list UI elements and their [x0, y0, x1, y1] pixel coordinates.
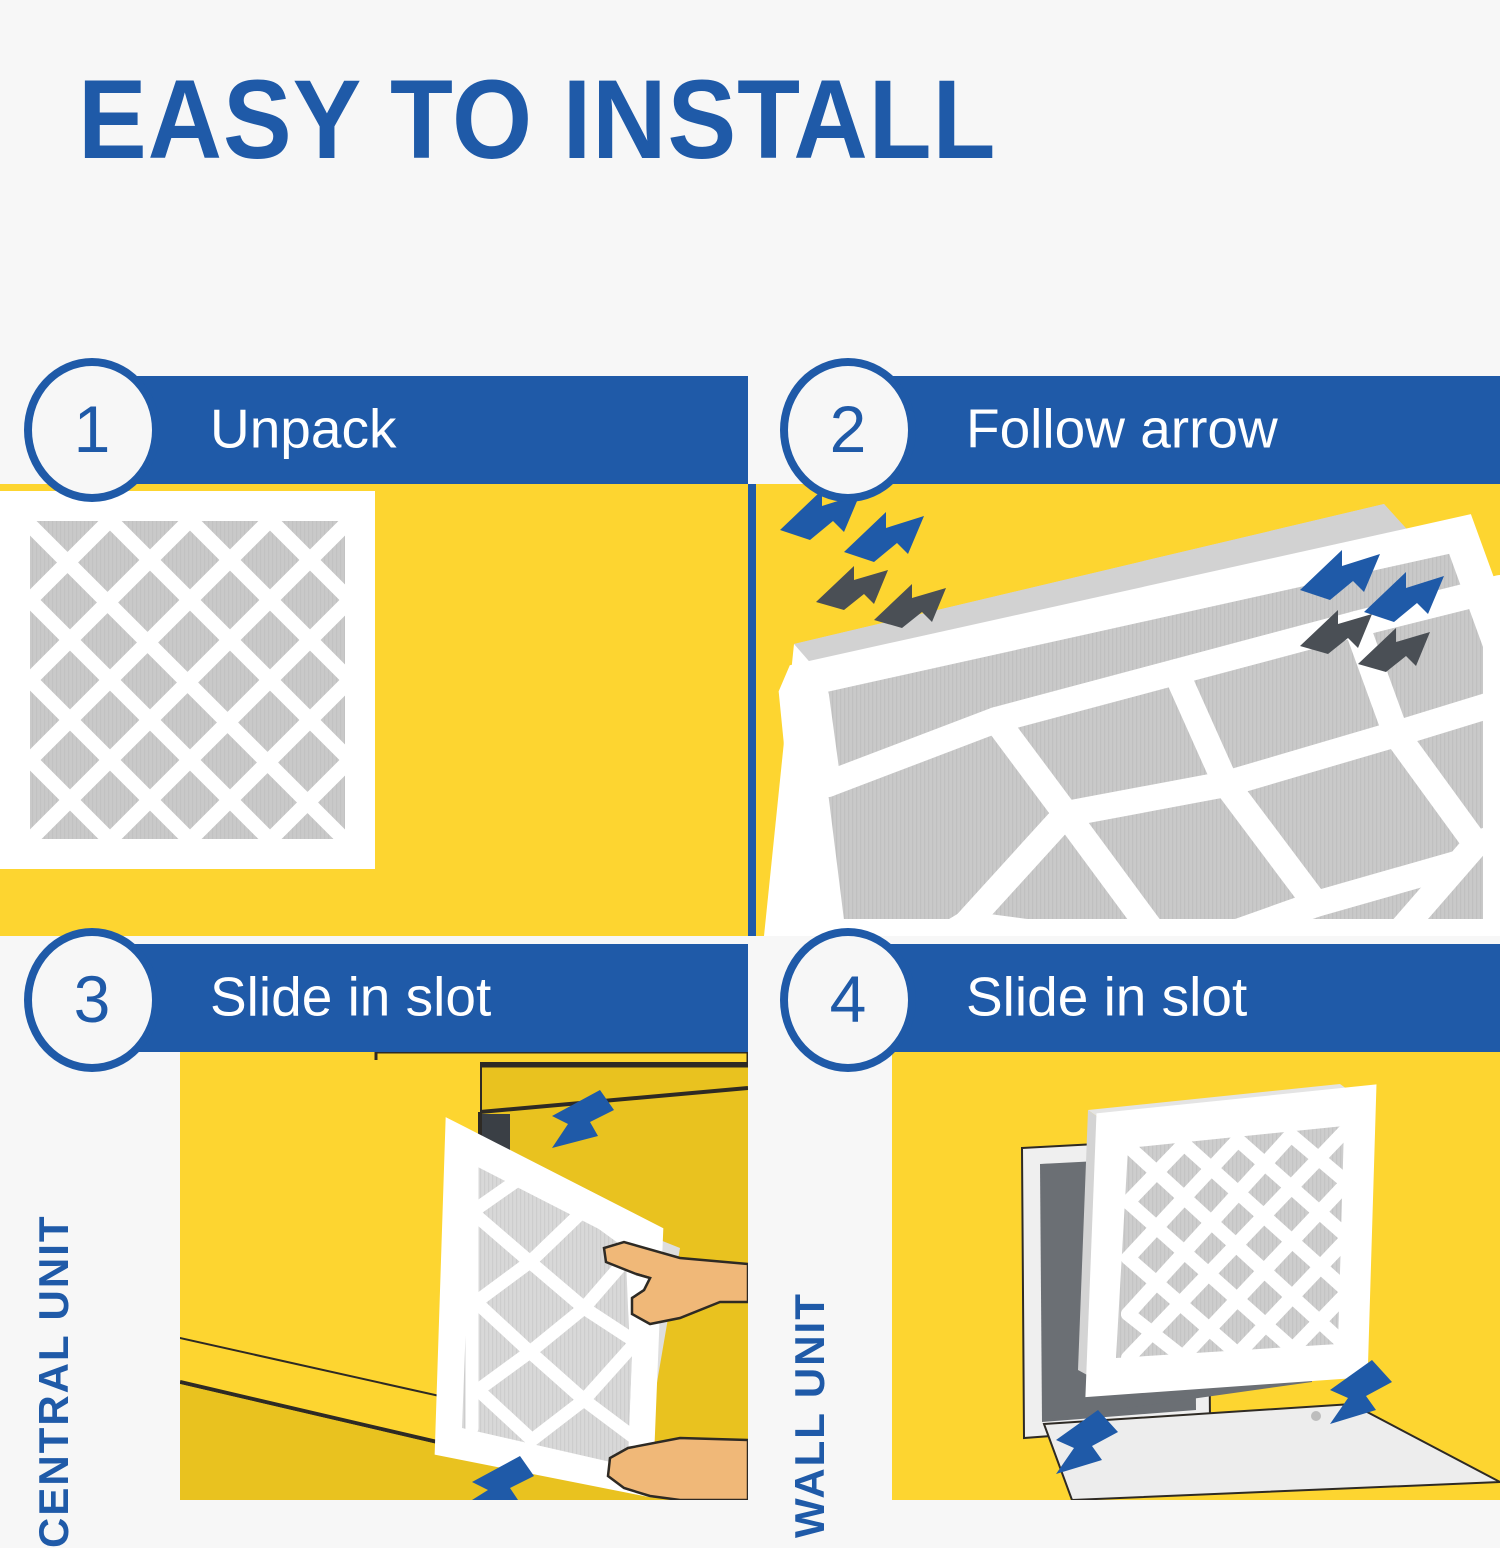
step-3-number: 3: [74, 966, 111, 1032]
step-3-number-badge: 3: [24, 928, 160, 1072]
step-3-label: Slide in slot: [210, 965, 491, 1029]
step-panel-2: Follow arrow 2: [756, 358, 1500, 936]
step-2-label: Follow arrow: [966, 397, 1278, 461]
side-label-central-unit: CENTRAL UNIT: [30, 1214, 78, 1548]
step-panel-1: Unpack 1: [0, 358, 748, 936]
step-1-number-badge: 1: [24, 358, 160, 502]
step-2-number-badge: 2: [780, 358, 916, 502]
side-label-wall-unit: WALL UNIT: [786, 1292, 834, 1538]
step-2-illustration: [756, 484, 1500, 936]
step-2-header-bar: Follow arrow: [844, 376, 1500, 484]
step-4-number: 4: [830, 966, 867, 1032]
step-panel-4: Slide in slot 4: [756, 944, 1500, 1500]
step-1-label: Unpack: [210, 397, 396, 461]
page-title: EASY TO INSTALL: [78, 64, 996, 176]
step-3-header-bar: Slide in slot: [88, 944, 748, 1052]
step-1-number: 1: [74, 396, 111, 462]
step-1-header-bar: Unpack: [88, 376, 748, 484]
step-3-illustration: [180, 1052, 748, 1500]
panel-divider: [748, 484, 756, 936]
step-2-number: 2: [830, 396, 867, 462]
step-4-header-bar: Slide in slot: [844, 944, 1500, 1052]
step-panel-3: Slide in slot 3: [0, 944, 748, 1500]
step-4-label: Slide in slot: [966, 965, 1247, 1029]
step-1-illustration: [0, 484, 748, 936]
step-4-number-badge: 4: [780, 928, 916, 1072]
step-4-illustration: [892, 1052, 1500, 1500]
